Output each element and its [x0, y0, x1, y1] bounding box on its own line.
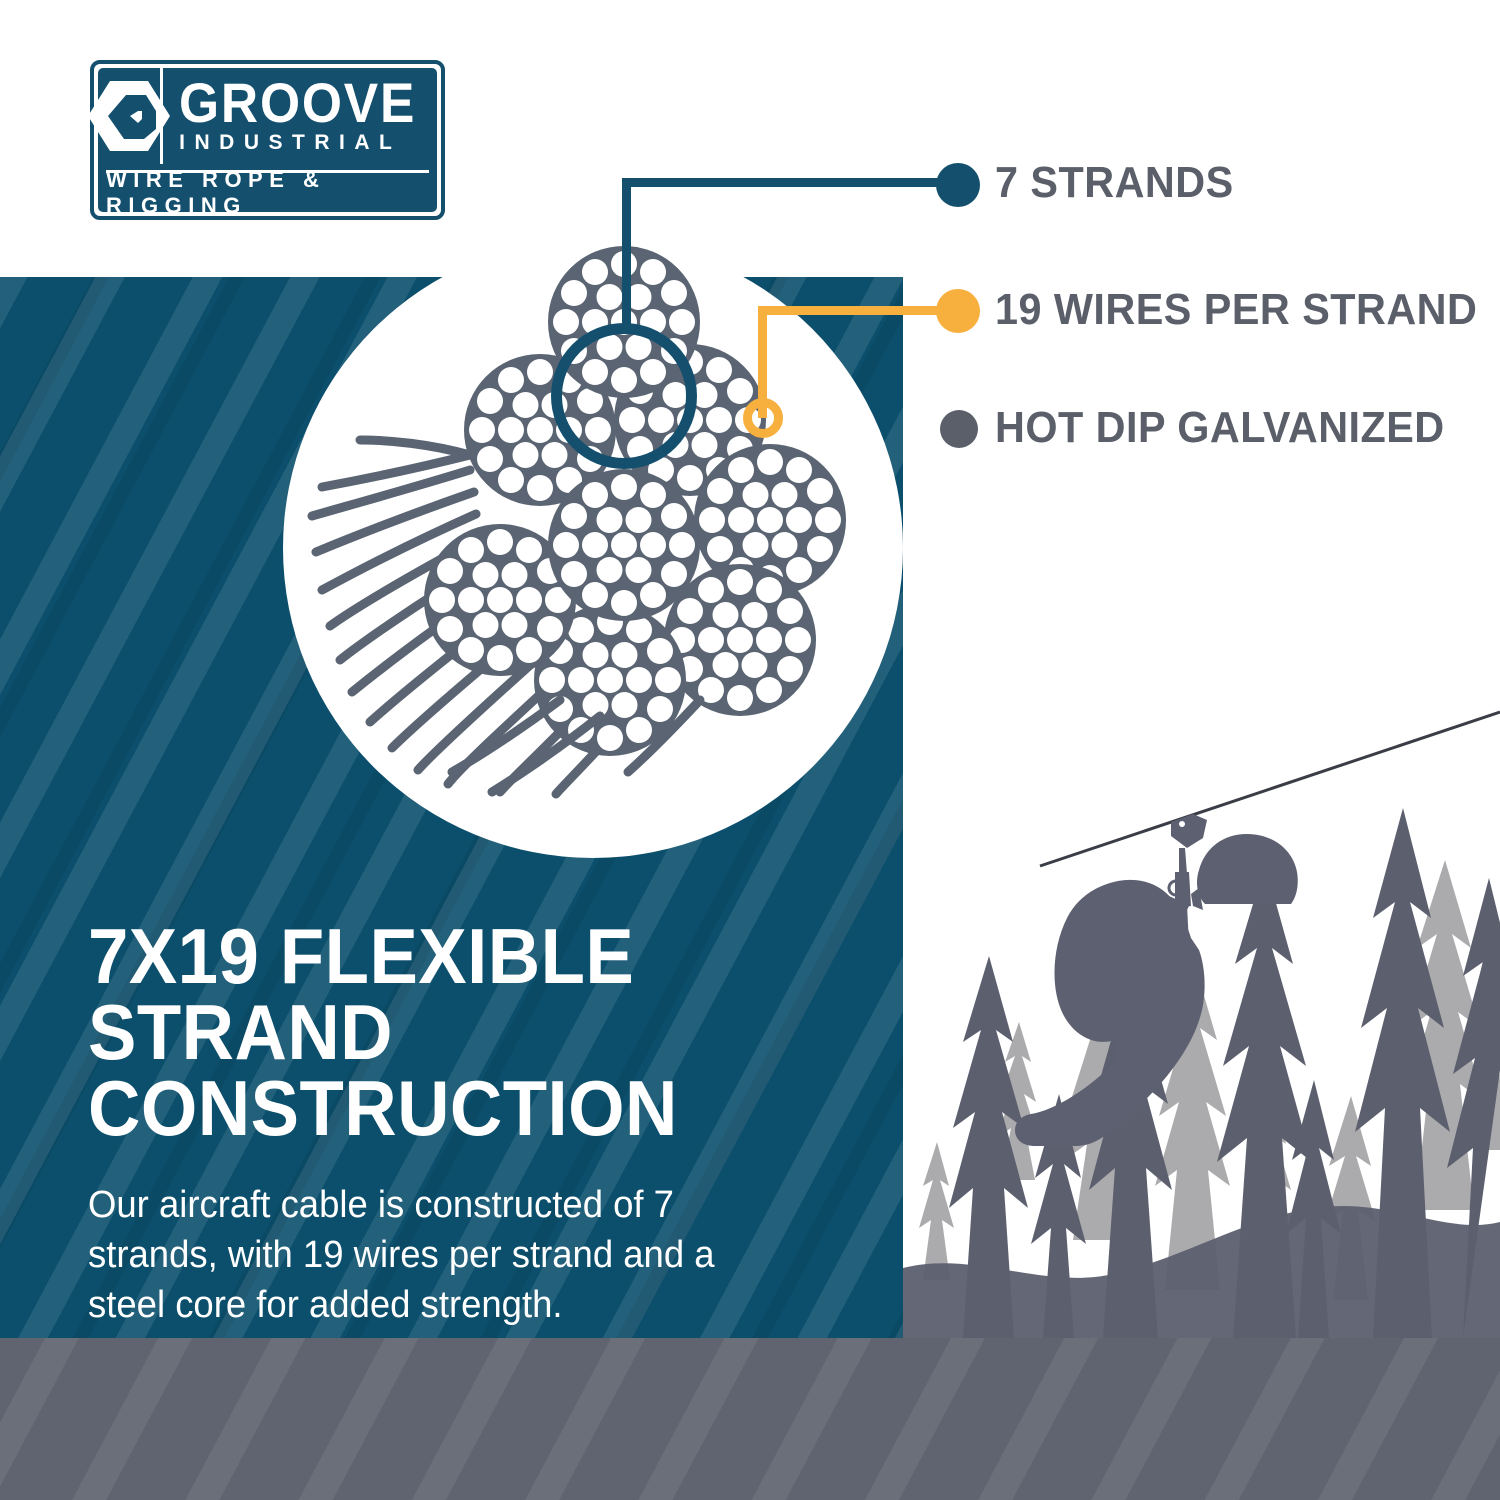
logo-wordmark: GROOVE INDUSTRIAL [163, 68, 437, 164]
callout-label-strands: 7 STRANDS [995, 160, 1234, 206]
bottom-band-stripes [0, 1338, 1500, 1500]
tree-silhouettes-foreground [903, 808, 1500, 1338]
logo-subname: INDUSTRIAL [179, 131, 437, 155]
headline-block: 7X19 FLEXIBLE STRAND CONSTRUCTION Our ai… [88, 918, 878, 1330]
logo-tagline: WIRE ROPE & RIGGING [106, 177, 429, 208]
bottom-gray-band [0, 1338, 1500, 1500]
headline-line-1: 7X19 FLEXIBLE [88, 912, 634, 1000]
zipline-rider-silhouette [1015, 834, 1298, 1146]
callout-label-wires: 19 WIRES PER STRAND [995, 287, 1477, 333]
brand-logo[interactable]: GROOVE INDUSTRIAL WIRE ROPE & RIGGING [90, 60, 445, 220]
headline-body-text: Our aircraft cable is constructed of 7 s… [88, 1180, 760, 1330]
callout-dot-galvanized [940, 410, 978, 448]
callout-label-galvanized: HOT DIP GALVANIZED [995, 405, 1445, 451]
groove-g-hexagon-icon [98, 68, 163, 164]
connector-orange-vertical [758, 306, 767, 418]
strand-highlight-circle [551, 323, 697, 469]
callout-dot-strands [936, 163, 980, 207]
page-title: 7X19 FLEXIBLE STRAND CONSTRUCTION [88, 918, 823, 1146]
connector-navy-vertical [622, 178, 631, 328]
logo-name: GROOVE [179, 77, 416, 129]
infographic-canvas: 7 STRANDS 19 WIRES PER STRAND HOT DIP GA… [0, 0, 1500, 1500]
zipline-trolley-icon [1169, 814, 1207, 945]
connector-navy-horizontal [622, 178, 952, 187]
tree-silhouettes-background [919, 860, 1500, 1300]
headline-line-2: STRAND CONSTRUCTION [88, 994, 823, 1146]
connector-orange-horizontal [758, 306, 958, 315]
callout-dot-wires [936, 289, 980, 333]
logo-top-band: GROOVE INDUSTRIAL [98, 68, 437, 164]
